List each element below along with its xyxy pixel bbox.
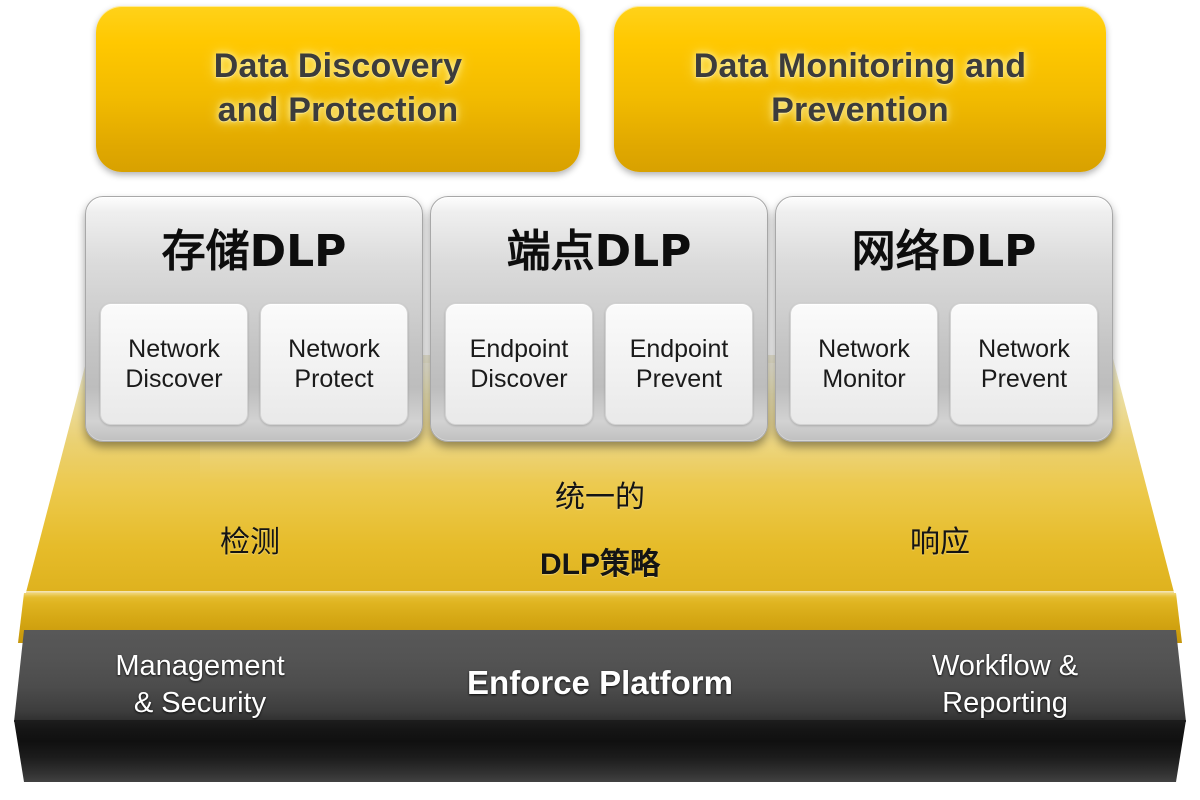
subbox-endpoint-prevent[interactable]: Endpoint Prevent (605, 303, 753, 425)
platform-label-unified-line2: DLP策略 (440, 542, 760, 587)
panel-endpoint-dlp[interactable]: 端点DLP Endpoint Discover Endpoint Prevent (430, 196, 768, 442)
subbox-network-discover[interactable]: Network Discover (100, 303, 248, 425)
banner-data-discovery-and-protection[interactable]: Data Discovery and Protection (96, 6, 580, 172)
panel-title: 网络DLP (776, 215, 1112, 279)
enforce-platform-base: Management & Security Enforce Platform W… (0, 630, 1200, 800)
subbox-label: Network Protect (288, 334, 380, 395)
diagram-canvas: Data Discovery and Protection Data Monit… (0, 0, 1200, 800)
subbox-label: Endpoint Prevent (630, 334, 729, 395)
banner-label: Data Discovery and Protection (214, 45, 463, 132)
subbox-network-monitor[interactable]: Network Monitor (790, 303, 938, 425)
panel-subbox-row: Network Monitor Network Prevent (790, 303, 1098, 425)
base-label-enforce-platform: Enforce Platform (430, 662, 770, 704)
panel-title: 存储DLP (86, 215, 422, 279)
subbox-network-protect[interactable]: Network Protect (260, 303, 408, 425)
subbox-network-prevent[interactable]: Network Prevent (950, 303, 1098, 425)
subbox-endpoint-discover[interactable]: Endpoint Discover (445, 303, 593, 425)
platform-label-unified-dlp-policy: 统一的 DLP策略 (440, 475, 760, 587)
base-label-management-and-security: Management & Security (60, 648, 340, 722)
base-front-face (0, 720, 1200, 792)
subbox-label: Endpoint Discover (470, 334, 569, 395)
banner-label: Data Monitoring and Prevention (694, 45, 1026, 132)
banner-data-monitoring-and-prevention[interactable]: Data Monitoring and Prevention (614, 6, 1106, 172)
panel-subbox-row: Endpoint Discover Endpoint Prevent (445, 303, 753, 425)
subbox-label: Network Monitor (818, 334, 910, 395)
panel-network-dlp[interactable]: 网络DLP Network Monitor Network Prevent (775, 196, 1113, 442)
platform-label-unified-line1: 统一的 (555, 481, 645, 514)
subbox-label: Network Discover (125, 334, 222, 395)
base-label-workflow-and-reporting: Workflow & Reporting (870, 648, 1140, 722)
subbox-label: Network Prevent (978, 334, 1070, 395)
platform-label-respond: 响应 (840, 520, 1040, 565)
panel-title: 端点DLP (431, 215, 767, 279)
panel-subbox-row: Network Discover Network Protect (100, 303, 408, 425)
panel-storage-dlp[interactable]: 存储DLP Network Discover Network Protect (85, 196, 423, 442)
base-top-surface: Management & Security Enforce Platform W… (0, 630, 1200, 722)
platform-label-detect: 检测 (150, 520, 350, 565)
